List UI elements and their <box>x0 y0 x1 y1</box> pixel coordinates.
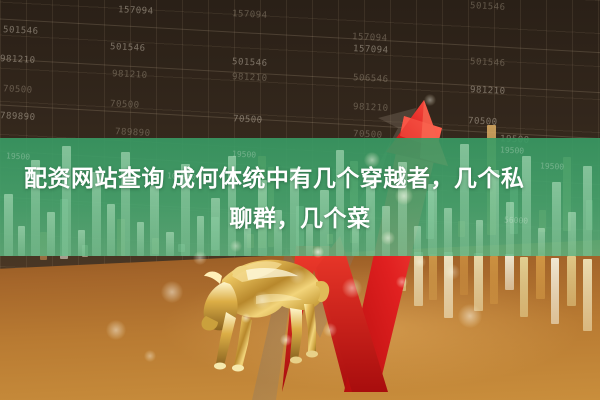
golden-bull-statue <box>186 246 336 372</box>
headline-line-2: 聊群，几个菜 <box>0 198 600 238</box>
green-band-label: 19500 <box>500 145 525 155</box>
page-title: 配资网站查询 成何体统中有几个穿越者，几个私 聊群，几个菜 <box>0 158 600 238</box>
banner-image: 1570945015461570941570945015465015469812… <box>0 0 600 400</box>
bull-body <box>202 260 330 372</box>
headline-line-1: 配资网站查询 成何体统中有几个穿越者，几个私 <box>0 158 600 198</box>
